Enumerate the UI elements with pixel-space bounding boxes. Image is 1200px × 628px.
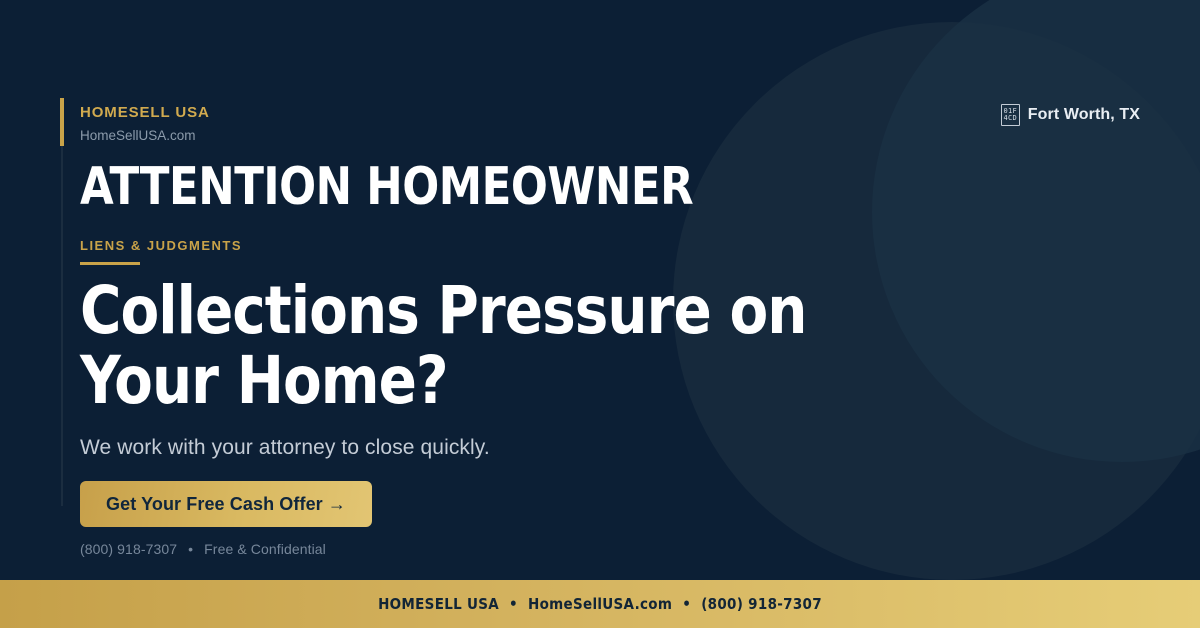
location-label: Fort Worth, TX [1028,106,1140,124]
footer-website: HomeSellUSA.com [528,595,672,613]
footer-separator-2-icon: • [682,595,691,613]
footer-phone: (800) 918-7307 [701,595,822,613]
trust-note: Free & Confidential [204,541,326,557]
brand-block: HOMESELL USA HomeSellUSA.com [80,104,210,144]
footer-bar: HOMESELL USA • HomeSellUSA.com • (800) 9… [0,580,1200,628]
headline-line-2: Your Home? [80,346,935,416]
footer-content: HOMESELL USA • HomeSellUSA.com • (800) 9… [378,595,822,613]
brand-name: HOMESELL USA [80,104,210,123]
trust-separator-icon: • [188,541,193,557]
attention-heading: ATTENTION HOMEOWNER [80,159,693,215]
eyebrow-label: LIENS & JUDGMENTS [80,238,242,253]
eyebrow-underline [80,262,140,265]
subheadline: We work with your attorney to close quic… [80,436,490,460]
headline: Collections Pressure on Your Home? [80,276,935,416]
ad-banner: HOMESELL USA HomeSellUSA.com 01F 4CD For… [0,0,1200,628]
headline-line-1: Collections Pressure on [80,276,935,346]
footer-separator-1-icon: • [509,595,518,613]
trust-phone: (800) 918-7307 [80,541,177,557]
location-block: 01F 4CD Fort Worth, TX [1001,104,1140,126]
banner-content: HOMESELL USA HomeSellUSA.com 01F 4CD For… [0,0,1200,580]
trust-line: (800) 918-7307 • Free & Confidential [80,541,326,557]
brand-website: HomeSellUSA.com [80,127,210,145]
map-pin-icon: 01F 4CD [1001,104,1020,126]
cta-button[interactable]: Get Your Free Cash Offer → [80,481,372,527]
footer-brand: HOMESELL USA [378,595,499,613]
